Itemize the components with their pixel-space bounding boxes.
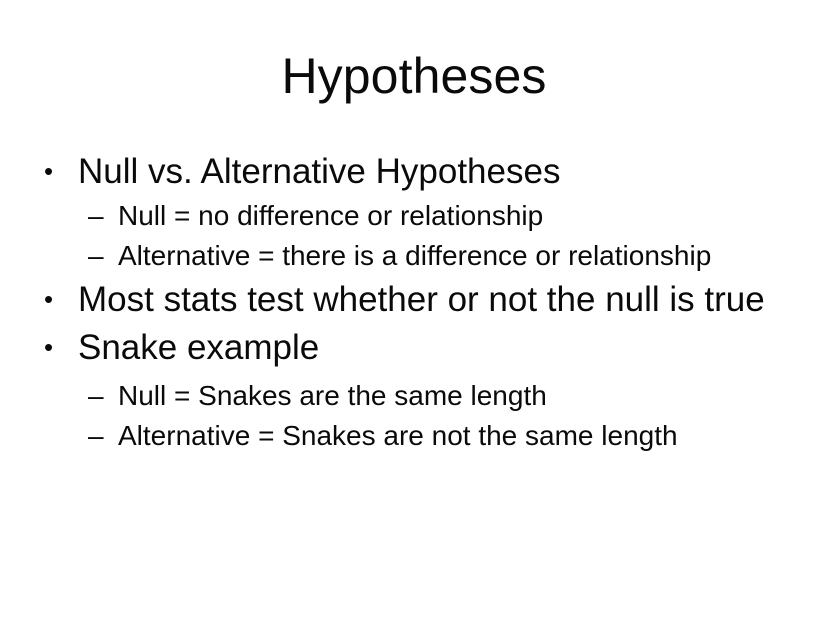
dash-marker-icon: – <box>88 236 118 276</box>
list-item-label: Null vs. Alternative Hypotheses <box>78 148 804 196</box>
list-item: – Alternative = Snakes are not the same … <box>44 416 804 456</box>
dash-marker-icon: – <box>88 416 118 456</box>
list-item: – Alternative = there is a difference or… <box>44 236 804 276</box>
list-item-label: Null = Snakes are the same length <box>118 376 804 416</box>
list-item-label: Most stats test whether or not the null … <box>78 276 804 324</box>
dash-marker-icon: – <box>88 376 118 416</box>
list-item-label: Alternative = there is a difference or r… <box>118 236 804 276</box>
bullet-marker-icon: • <box>44 276 78 323</box>
list-item: • Null vs. Alternative Hypotheses <box>44 148 804 196</box>
list-item-label: Alternative = Snakes are not the same le… <box>118 416 804 456</box>
list-item: – Null = Snakes are the same length <box>44 376 804 416</box>
list-item: • Most stats test whether or not the nul… <box>44 276 804 324</box>
slide-body-list: • Null vs. Alternative Hypotheses – Null… <box>44 148 804 456</box>
bullet-marker-icon: • <box>44 324 78 371</box>
list-item: • Snake example <box>44 324 804 372</box>
list-item: – Null = no difference or relationship <box>44 196 804 236</box>
page-title: Hypotheses <box>0 48 828 104</box>
bullet-marker-icon: • <box>44 148 78 195</box>
list-item-label: Snake example <box>78 324 804 372</box>
list-item-label: Null = no difference or relationship <box>118 196 804 236</box>
slide-canvas: Hypotheses • Null vs. Alternative Hypoth… <box>0 0 828 621</box>
dash-marker-icon: – <box>88 196 118 236</box>
